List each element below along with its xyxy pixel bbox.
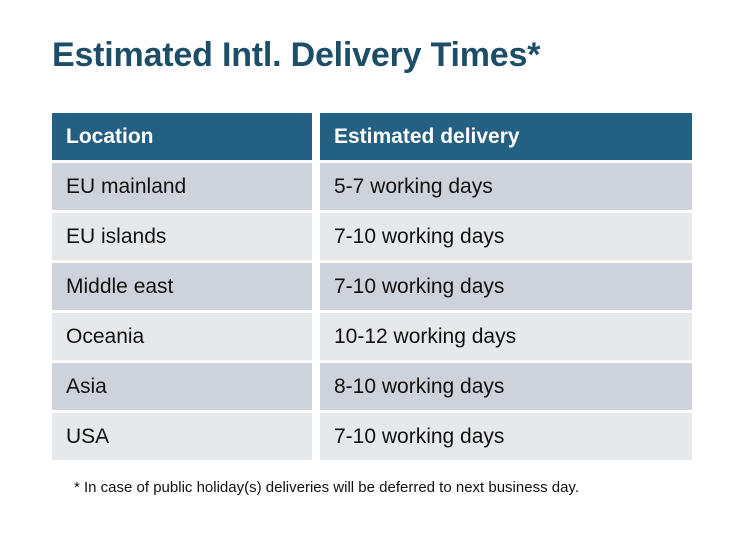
delivery-times-document: Estimated Intl. Delivery Times* Location… <box>0 0 745 536</box>
table-row: Oceania 10-12 working days <box>52 313 692 360</box>
cell-location: Asia <box>52 363 312 410</box>
cell-location: USA <box>52 413 312 460</box>
cell-location: Middle east <box>52 263 312 310</box>
table-row: EU mainland 5-7 working days <box>52 163 692 210</box>
page-title: Estimated Intl. Delivery Times* <box>52 36 540 75</box>
column-header-location: Location <box>52 113 312 160</box>
cell-delivery: 5-7 working days <box>320 163 692 210</box>
cell-delivery: 7-10 working days <box>320 413 692 460</box>
footnote: * In case of public holiday(s) deliverie… <box>74 479 579 496</box>
delivery-times-table: Location Estimated delivery EU mainland … <box>52 113 692 463</box>
table-header-row: Location Estimated delivery <box>52 113 692 160</box>
table-row: Asia 8-10 working days <box>52 363 692 410</box>
cell-delivery: 10-12 working days <box>320 313 692 360</box>
cell-location: EU islands <box>52 213 312 260</box>
cell-location: Oceania <box>52 313 312 360</box>
column-header-estimated-delivery: Estimated delivery <box>320 113 692 160</box>
table-row: EU islands 7-10 working days <box>52 213 692 260</box>
table-row: USA 7-10 working days <box>52 413 692 460</box>
cell-delivery: 8-10 working days <box>320 363 692 410</box>
table-row: Middle east 7-10 working days <box>52 263 692 310</box>
cell-delivery: 7-10 working days <box>320 213 692 260</box>
cell-location: EU mainland <box>52 163 312 210</box>
cell-delivery: 7-10 working days <box>320 263 692 310</box>
